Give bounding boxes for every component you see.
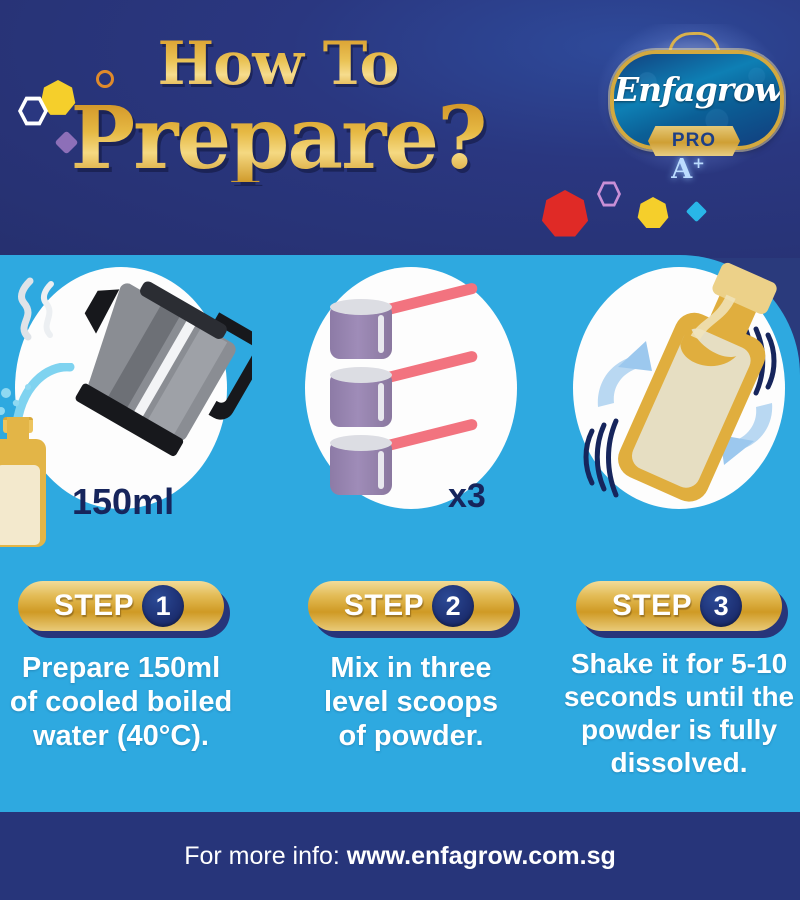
step-2-multiplier-label: x3 [448, 477, 486, 516]
footer-prefix: For more info: [184, 842, 347, 870]
scoop-3-highlight [378, 451, 384, 489]
red-heptagon-icon [541, 190, 589, 238]
step-3-badge-pill: STEP 3 [576, 581, 782, 631]
steps-panel: 150ml STEP 1 Prepare 150ml of cooled boi… [0, 255, 800, 813]
step-1: 150ml STEP 1 Prepare 150ml of cooled boi… [0, 255, 254, 813]
shaking-bottle-icon [546, 255, 800, 555]
step-1-badge: STEP 1 [18, 581, 224, 631]
scoop-3-rim [330, 435, 392, 451]
logo-grade-letter: A [671, 154, 692, 185]
yellow-heptagon-2-icon [637, 197, 669, 229]
bottle-liquid [0, 465, 40, 545]
header-banner: How To Prepare? Enfagrow PRO A+ [0, 0, 800, 258]
step-1-badge-number: 1 [142, 585, 184, 627]
footer-url[interactable]: www.enfagrow.com.sg [347, 842, 616, 870]
step-2-badge-number: 2 [432, 585, 474, 627]
page-title: How To Prepare? [0, 34, 556, 182]
step-3-caption: Shake it for 5-10 seconds until the powd… [534, 647, 800, 779]
steps-row: 150ml STEP 1 Prepare 150ml of cooled boi… [0, 255, 800, 813]
logo-pro-ribbon: PRO [648, 126, 740, 156]
title-line-1: How To [0, 34, 556, 94]
step-1-caption: Prepare 150ml of cooled boiled water (40… [0, 651, 266, 753]
step-3: STEP 3 Shake it for 5-10 seconds until t… [546, 255, 800, 813]
step-2: x3 STEP 2 Mix in three level scoops of p… [278, 255, 544, 813]
scoop-2-rim [330, 367, 392, 383]
step-2-badge-word: STEP [344, 589, 424, 623]
logo-pro-label: PRO [672, 130, 716, 152]
step-3-badge: STEP 3 [576, 581, 782, 631]
footer-text: For more info: www.enfagrow.com.sg [184, 842, 616, 871]
logo-a-plus: A+ [586, 154, 790, 185]
motion-lines-left [586, 421, 616, 495]
bottle-icon [0, 417, 46, 547]
scoop-2-highlight [378, 383, 384, 421]
step-2-badge: STEP 2 [308, 581, 514, 631]
title-line-2: Prepare? [0, 96, 556, 182]
kettle-pouring-into-bottle-icon: 150ml [0, 255, 254, 555]
step-1-badge-word: STEP [54, 589, 134, 623]
scoop-1-highlight [378, 315, 384, 353]
footer-bar: For more info: www.enfagrow.com.sg [0, 812, 800, 900]
step-1-volume-label: 150ml [72, 481, 174, 523]
shake-illustration [546, 255, 800, 555]
enfagrow-logo: Enfagrow PRO A+ [586, 18, 790, 188]
step-3-badge-word: STEP [612, 589, 692, 623]
cyan-diamond-icon [686, 201, 707, 222]
step-1-badge-pill: STEP 1 [18, 581, 224, 631]
step-2-badge-pill: STEP 2 [308, 581, 514, 631]
step-2-caption: Mix in three level scoops of powder. [266, 651, 556, 753]
step-3-badge-number: 3 [700, 585, 742, 627]
scoop-1-rim [330, 299, 392, 315]
logo-wordmark: Enfagrow [614, 70, 780, 109]
logo-grade-plus: + [692, 154, 705, 172]
three-measuring-scoops-icon: x3 [278, 255, 544, 555]
steam-icon [10, 277, 70, 341]
kettle-icon [62, 275, 252, 465]
infographic-root: How To Prepare? Enfagrow PRO A+ [0, 0, 800, 900]
scoop-1-handle [383, 282, 479, 316]
